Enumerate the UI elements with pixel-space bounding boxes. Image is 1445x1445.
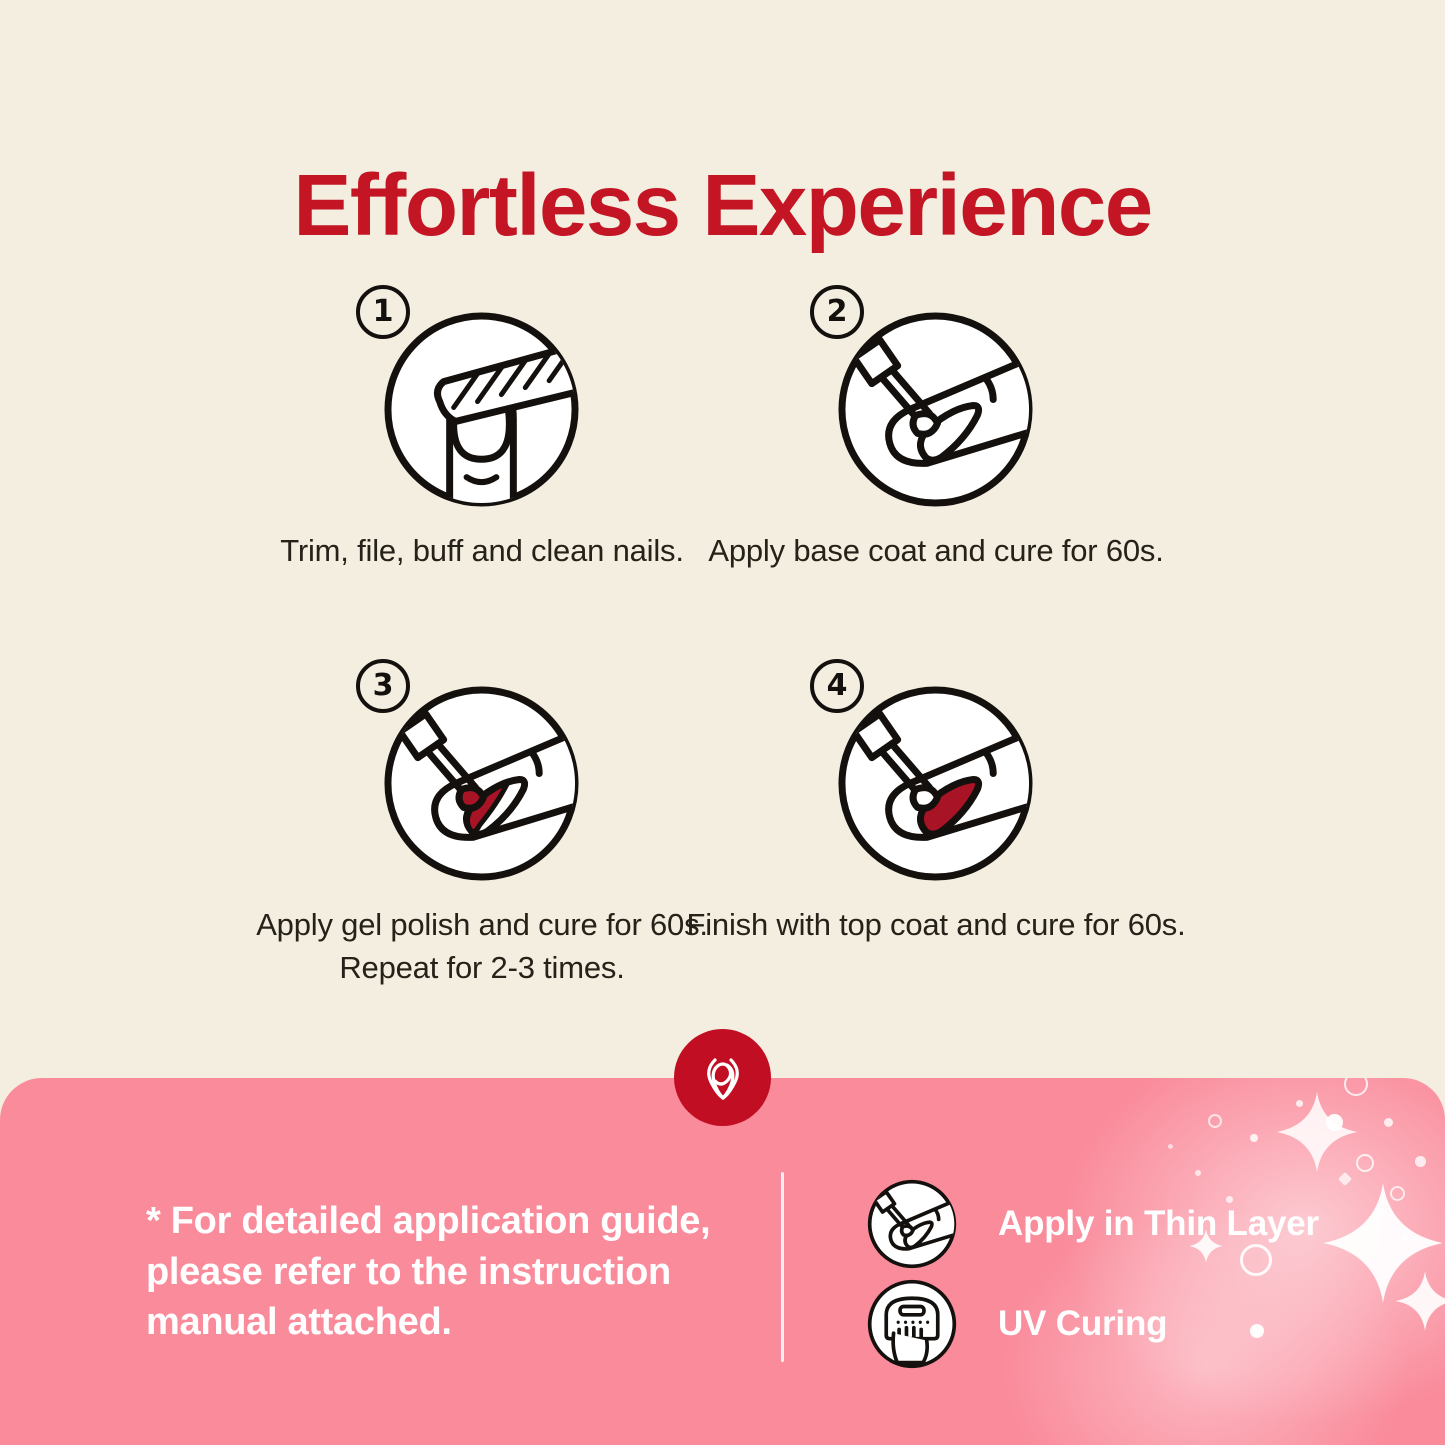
footer-divider <box>781 1172 784 1362</box>
uv-lamp-icon <box>866 1278 958 1370</box>
particle-dot <box>1402 1234 1408 1240</box>
top-coat-brush-icon <box>836 684 1035 883</box>
particle-dot <box>1250 1324 1264 1338</box>
step-4-illustration: 4 <box>686 646 1186 882</box>
particle-ring <box>1208 1114 1222 1128</box>
step-card-1: 1 <box>232 272 732 573</box>
feature-label: UV Curing <box>998 1304 1167 1344</box>
sparkle-star-icon <box>1318 1178 1445 1308</box>
step-caption-2: Apply base coat and cure for 60s. <box>686 530 1186 573</box>
page-title: Effortless Experience <box>0 162 1445 249</box>
nail-file-icon <box>382 310 581 509</box>
particle-dot <box>1250 1134 1258 1142</box>
particle-dot <box>1384 1118 1393 1127</box>
step-card-4: 4 <box>686 646 1186 947</box>
step-card-3: 3 <box>232 646 732 990</box>
step-caption-3: Apply gel polish and cure for 60s. Repea… <box>232 904 732 990</box>
particle-dot <box>1168 1144 1173 1149</box>
base-coat-brush-icon <box>836 310 1035 509</box>
footer-note: * For detailed application guide, please… <box>146 1196 766 1348</box>
step-3-illustration: 3 <box>232 646 732 882</box>
particle-ring <box>1390 1186 1405 1201</box>
particle-dot <box>1326 1114 1343 1131</box>
thin-layer-brush-icon <box>866 1178 958 1270</box>
step-card-2: 2 <box>686 272 1186 573</box>
sparkle-star-icon <box>1269 1084 1365 1180</box>
step-number-badge-4: 4 <box>810 659 864 713</box>
feature-label: Apply in Thin Layer <box>998 1204 1319 1244</box>
feature-thin-layer: Apply in Thin Layer <box>866 1178 1319 1270</box>
steps-grid: 1 <box>0 272 1445 1012</box>
particle-ring <box>1356 1154 1374 1172</box>
step-1-illustration: 1 <box>232 272 732 508</box>
step-number-badge-2: 2 <box>810 285 864 339</box>
brand-logo-badge <box>674 1029 771 1126</box>
particle-square <box>1338 1172 1352 1186</box>
gel-polish-brush-icon <box>382 684 581 883</box>
particle-dot <box>1296 1100 1303 1107</box>
particle-dot <box>1195 1170 1201 1176</box>
infographic-page: Effortless Experience 1 <box>0 0 1445 1445</box>
sparkle-star-icon <box>1388 1264 1445 1338</box>
feature-uv-curing: UV Curing <box>866 1278 1167 1370</box>
step-number-badge-3: 3 <box>356 659 410 713</box>
step-caption-4: Finish with top coat and cure for 60s. <box>686 904 1186 947</box>
particle-ring <box>1344 1078 1368 1096</box>
particle-dot <box>1415 1156 1426 1167</box>
step-number-badge-1: 1 <box>356 285 410 339</box>
step-2-illustration: 2 <box>686 272 1186 508</box>
particle-square <box>1374 1206 1387 1219</box>
step-caption-1: Trim, file, buff and clean nails. <box>232 530 732 573</box>
brand-logo-icon <box>693 1048 753 1108</box>
